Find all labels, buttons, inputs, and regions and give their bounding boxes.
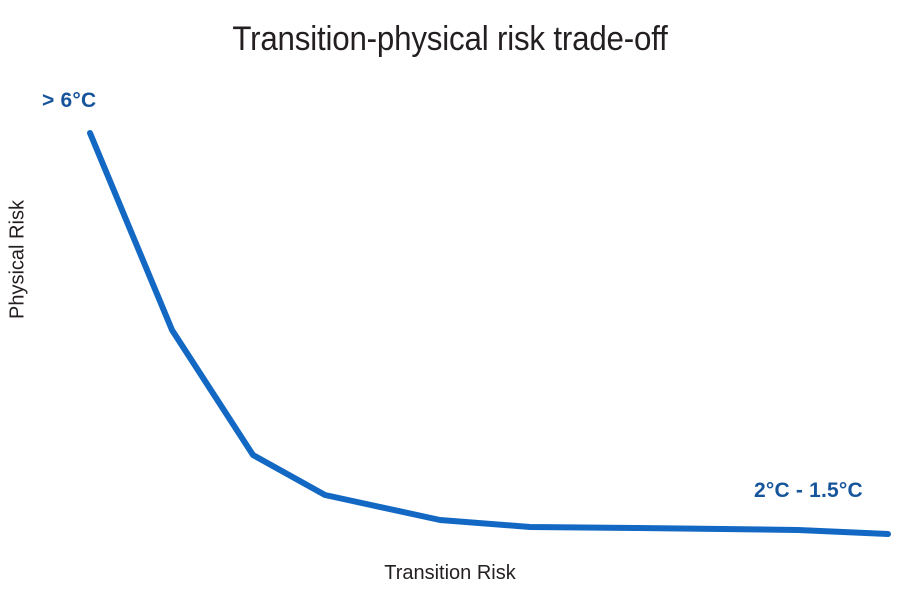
annotation-paris-aligned: 2°C - 1.5°C [754, 479, 863, 503]
chart-figure: Transition-physical risk trade-off Physi… [0, 0, 900, 594]
annotation-high-warming: > 6°C [42, 89, 96, 113]
chart-svg [0, 0, 900, 594]
risk-tradeoff-line [90, 133, 888, 534]
plot-area [0, 0, 900, 594]
